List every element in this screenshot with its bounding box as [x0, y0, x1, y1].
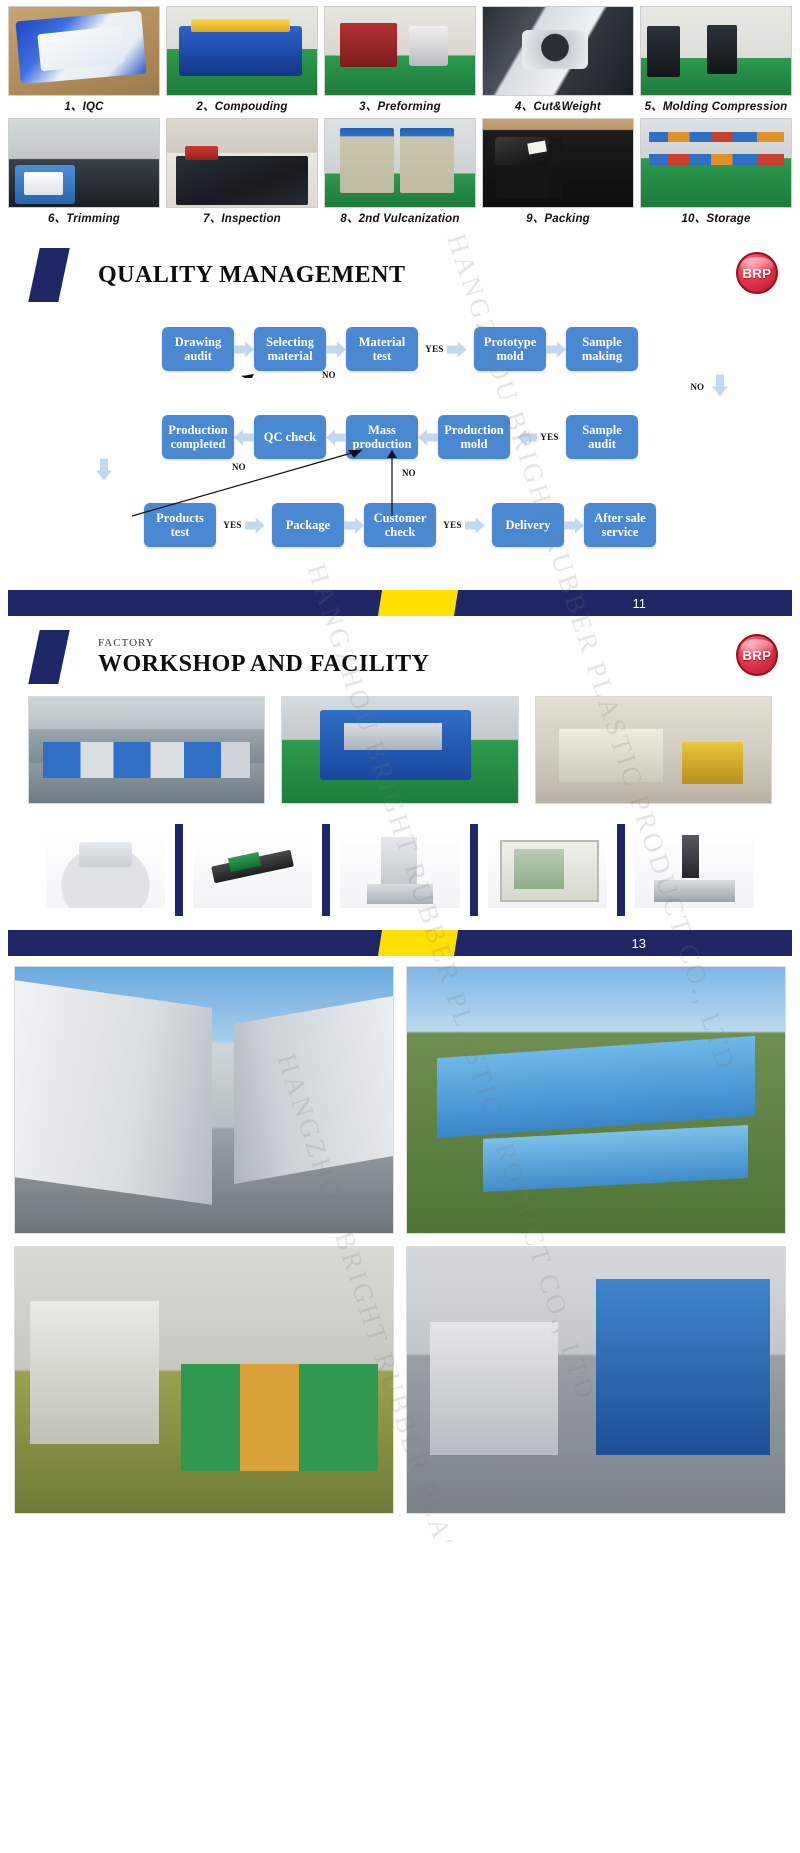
preforming-photo [324, 6, 476, 96]
process-step-5-number: 5、 [645, 101, 663, 113]
equipment-cell-aging-oven [478, 824, 617, 916]
tensile-tester [340, 832, 459, 908]
process-step-3-label: 3、Preforming [324, 96, 476, 114]
molding-compression-photo [640, 6, 792, 96]
flowchart-row-1: Drawing audit Selecting material Materia… [10, 320, 790, 378]
workshop-line-photo [28, 696, 265, 804]
process-step-5: 5、Molding Compression [640, 6, 792, 114]
process-step-2-name: Compouding [215, 101, 288, 113]
no-label-material-test: NO [322, 370, 336, 380]
manufacturing-process-section: 1、IQC 2、Compouding 3、Preforming 4、Cut&We… [0, 0, 800, 234]
process-step-7-number: 7、 [203, 213, 221, 225]
flow-arrow-1 [234, 341, 254, 357]
flow-arrow-11-yes: YES [436, 517, 492, 533]
arrow-right-icon [234, 341, 254, 357]
brp-logo-text: BRP [743, 266, 772, 281]
banner-yellow-accent [378, 590, 458, 616]
flow-box-customer-check[interactable]: Customer check [364, 503, 436, 547]
page-banner-13: 13 [8, 930, 792, 956]
aging-oven [488, 832, 607, 908]
flow-arrow-7 [418, 429, 438, 445]
process-step-1-name: IQC [83, 101, 104, 113]
process-step-6: 6、Trimming [8, 118, 160, 226]
equipment-cell-hardness-tester [625, 824, 764, 916]
process-row-1: 1、IQC 2、Compouding 3、Preforming 4、Cut&We… [8, 6, 792, 114]
second-vulcanization-photo [324, 118, 476, 208]
arrow-right-icon [546, 341, 566, 357]
equipment-cell-digital-caliper [183, 824, 322, 916]
process-step-4-label: 4、Cut&Weight [482, 96, 634, 114]
process-step-3: 3、Preforming [324, 6, 476, 114]
process-step-9-label: 9、Packing [482, 208, 634, 226]
product-detail-page: 1、IQC 2、Compouding 3、Preforming 4、Cut&We… [0, 0, 800, 1542]
arrow-right-icon [465, 517, 485, 533]
warehouse-photo [535, 696, 772, 804]
arrow-right-icon [326, 341, 346, 357]
arrow-right-icon [564, 517, 584, 533]
process-step-7: 7、Inspection [166, 118, 318, 226]
process-step-7-label: 7、Inspection [166, 208, 318, 226]
flow-box-prototype-mold[interactable]: Prototype mold [474, 327, 546, 371]
equipment-strip [36, 824, 764, 916]
process-step-8-number: 8、 [340, 213, 358, 225]
process-step-1-label: 1、IQC [8, 96, 160, 114]
process-step-1: 1、IQC [8, 6, 160, 114]
process-step-8: 8、2nd Vulcanization [324, 118, 476, 226]
factory-building-exterior [14, 966, 394, 1234]
process-step-2: 2、Compouding [166, 6, 318, 114]
equipment-cell-density-balance [36, 824, 175, 916]
arrow-down-icon [712, 374, 728, 396]
yes-label-products-test: YES [223, 520, 241, 530]
arrow-left-icon [418, 429, 438, 445]
flow-arrow-5 [234, 429, 254, 445]
process-step-3-name: Preforming [377, 101, 440, 113]
brp-logo-text: BRP [743, 648, 772, 663]
process-step-4-number: 4、 [515, 101, 533, 113]
no-label-sample-audit: NO [691, 382, 705, 392]
process-step-10-number: 10、 [681, 213, 706, 225]
flowchart-row-2: Production completed QC check Mass produ… [10, 408, 790, 466]
flow-box-sample-audit[interactable]: Sample audit [566, 415, 638, 459]
flow-box-products-test[interactable]: Products test [144, 503, 216, 547]
packing-photo [482, 118, 634, 208]
process-step-1-number: 1、 [64, 101, 82, 113]
vulcanizing-press-line [406, 1246, 786, 1514]
iqc-photo [8, 6, 160, 96]
density-balance [46, 832, 165, 908]
process-step-5-label: 5、Molding Compression [640, 96, 792, 114]
arrow-left-icon [326, 429, 346, 445]
process-step-3-number: 3、 [359, 101, 377, 113]
gallery-row-1 [14, 966, 786, 1234]
digital-caliper [193, 832, 312, 908]
flow-arrow-10 [344, 517, 364, 533]
compounding-photo [166, 6, 318, 96]
workshop-photo-grid [0, 690, 800, 810]
process-step-10: 10、Storage [640, 118, 792, 226]
process-step-6-name: Trimming [66, 213, 120, 225]
flow-down-production-completed [96, 458, 112, 480]
process-step-7-name: Inspection [221, 213, 281, 225]
flowchart-row-3: Products test YES Package Customer check… [10, 496, 790, 554]
process-step-2-label: 2、Compouding [166, 96, 318, 114]
gallery-row-2 [14, 1246, 786, 1514]
yes-label-customer-check: YES [443, 520, 461, 530]
factory-gallery [0, 956, 800, 1542]
equipment-divider [470, 824, 478, 916]
process-step-4-name: Cut&Weight [533, 101, 601, 113]
flow-box-package[interactable]: Package [272, 503, 344, 547]
flow-arrow-3-yes: YES [418, 341, 474, 357]
flow-box-material-test[interactable]: Material test [346, 327, 418, 371]
flow-arrow-12 [564, 517, 584, 533]
press-machine-photo [281, 696, 518, 804]
process-step-5-name: Molding Compression [663, 101, 788, 113]
process-step-8-label: 8、2nd Vulcanization [324, 208, 476, 226]
no-label-products-test: NO [232, 462, 246, 472]
flow-arrow-9-yes: YES [216, 517, 272, 533]
equipment-divider [322, 824, 330, 916]
arrow-right-icon [344, 517, 364, 533]
arrow-left-icon [234, 429, 254, 445]
process-row-2: 6、Trimming 7、Inspection 8、2nd Vulcanizat… [8, 118, 792, 226]
process-step-9-number: 9、 [526, 213, 544, 225]
flow-box-qc-check[interactable]: QC check [254, 415, 326, 459]
banner-page-number-13: 13 [632, 936, 646, 951]
flow-arrow-2 [326, 341, 346, 357]
brp-logo-icon: BRP [736, 634, 778, 676]
arrow-right-icon [447, 341, 467, 357]
flow-box-selecting-material[interactable]: Selecting material [254, 327, 326, 371]
flow-box-production-mold[interactable]: Production mold [438, 415, 510, 459]
flow-box-delivery[interactable]: Delivery [492, 503, 564, 547]
flow-box-drawing-audit[interactable]: Drawing audit [162, 327, 234, 371]
page-banner-11: 11 [8, 590, 792, 616]
cut-and-weight-photo [482, 6, 634, 96]
inspection-photo [166, 118, 318, 208]
workshop-header: FACTORY WORKSHOP AND FACILITY BRP [0, 616, 800, 690]
arrow-right-icon [245, 517, 265, 533]
navy-parallelogram-icon [28, 248, 69, 302]
process-step-2-number: 2、 [196, 101, 214, 113]
flow-box-mass-production[interactable]: Mass production [346, 415, 418, 459]
trimming-photo [8, 118, 160, 208]
hardness-tester [635, 832, 754, 908]
arrow-down-icon [96, 458, 112, 480]
flow-arrow-4 [546, 341, 566, 357]
flow-box-sample-making[interactable]: Sample making [566, 327, 638, 371]
storage-photo [640, 118, 792, 208]
arrow-left-icon [517, 429, 537, 445]
banner-page-number-11: 11 [633, 596, 647, 611]
yes-label-sample-audit: YES [540, 432, 558, 442]
navy-parallelogram-icon [28, 630, 69, 684]
flow-arrow-8-yes: YES [510, 429, 566, 445]
flow-box-after-sale-service[interactable]: After sale service [584, 503, 656, 547]
workshop-photo-row [28, 696, 772, 804]
process-step-6-label: 6、Trimming [8, 208, 160, 226]
equipment-divider [617, 824, 625, 916]
workshop-title: WORKSHOP AND FACILITY [98, 651, 429, 678]
process-step-9-name: Packing [544, 213, 590, 225]
process-step-4: 4、Cut&Weight [482, 6, 634, 114]
quality-management-header: QUALITY MANAGEMENT BRP [0, 234, 800, 308]
no-label-customer-check: NO [402, 468, 416, 478]
process-step-8-name: 2nd Vulcanization [359, 213, 460, 225]
equipment-cell-tensile-tester [330, 824, 469, 916]
workshop-eyebrow: FACTORY [98, 637, 429, 649]
yes-label-material-test: YES [425, 344, 443, 354]
equipment-divider [175, 824, 183, 916]
process-step-6-number: 6、 [48, 213, 66, 225]
quality-flowchart: Drawing audit Selecting material Materia… [0, 310, 800, 576]
production-floor-crates [14, 1246, 394, 1514]
factory-aerial-view [406, 966, 786, 1234]
flow-box-production-completed[interactable]: Production completed [162, 415, 234, 459]
quality-management-title: QUALITY MANAGEMENT [98, 262, 405, 289]
process-step-10-label: 10、Storage [640, 208, 792, 226]
process-step-10-name: Storage [706, 213, 750, 225]
banner-yellow-accent [378, 930, 458, 956]
flow-arrow-6 [326, 429, 346, 445]
brp-logo-icon: BRP [736, 252, 778, 294]
process-step-9: 9、Packing [482, 118, 634, 226]
flow-down-sample-making [712, 374, 728, 396]
